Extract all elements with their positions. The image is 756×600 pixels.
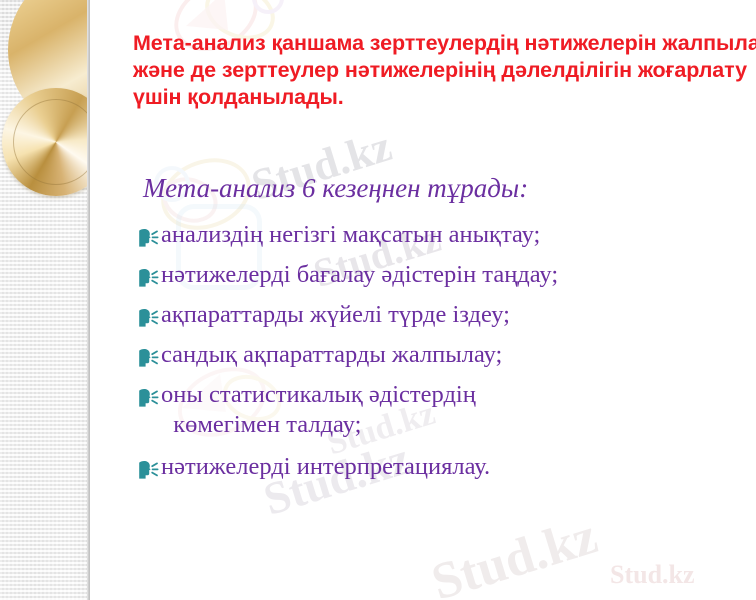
speaking-head-icon — [136, 459, 160, 481]
list-item: ақпараттарды жүйелі түрде іздеу; — [136, 300, 756, 330]
slide-canvas: Stud.kz Stud.kz Stud.kz Stud.kz Stud.kz … — [0, 0, 756, 600]
sidebar-edge-line — [87, 0, 90, 600]
list-item: анализдің негізгі мақсатын анықтау; — [136, 220, 756, 250]
list-item: оны статистикалық әдістердің көмегімен т… — [136, 380, 756, 440]
list-item-label: сандық ақпараттарды жалпылау; — [161, 340, 502, 370]
list-item-label: оны статистикалық әдістердің көмегімен т… — [161, 380, 476, 440]
slide-subtitle: Мета-анализ 6 кезеңнен тұрады: — [143, 172, 528, 204]
decorative-sidebar — [0, 0, 90, 600]
list-item-label: нәтижелерді интерпретациялау. — [161, 452, 490, 482]
list-item: нәтижелерді интерпретациялау. — [136, 452, 756, 482]
bullet-list: анализдің негізгі мақсатын анықтау; нәти… — [136, 220, 756, 492]
list-item-label: ақпараттарды жүйелі түрде іздеу; — [161, 300, 510, 330]
speaking-head-icon — [136, 347, 160, 369]
gold-inner-ring-icon — [13, 99, 90, 185]
list-item-label: нәтижелерді бағалау әдістерін таңдау; — [161, 260, 558, 290]
watermark-stud-kz: Stud.kz — [425, 507, 604, 600]
speaking-head-icon — [136, 307, 160, 329]
watermark-stud-kz: Stud.kz — [610, 560, 695, 590]
speaking-head-icon — [136, 387, 160, 409]
speaking-head-icon — [136, 227, 160, 249]
list-item-label: анализдің негізгі мақсатын анықтау; — [161, 220, 540, 250]
slide-title: Мета-анализ қаншама зерттеулердің нәтиже… — [133, 30, 756, 111]
list-item: нәтижелерді бағалау әдістерін таңдау; — [136, 260, 756, 290]
list-item: сандық ақпараттарды жалпылау; — [136, 340, 756, 370]
speaking-head-icon — [136, 267, 160, 289]
